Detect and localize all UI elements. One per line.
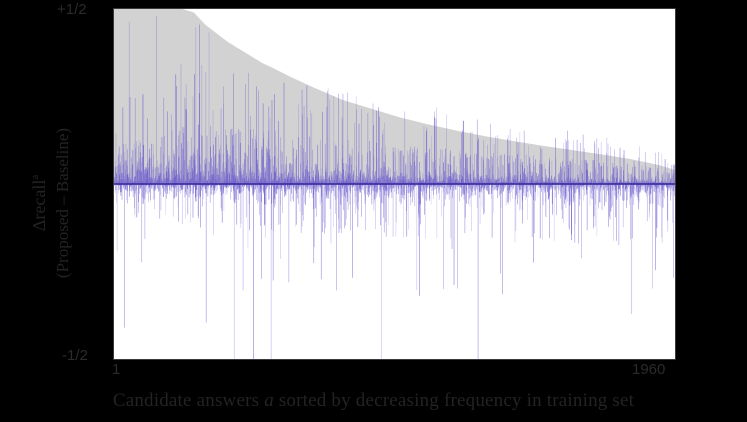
zero-baseline-layer [114, 9, 675, 359]
x-axis-tick-left: 1 [112, 362, 120, 377]
plot-inner [114, 9, 675, 359]
y-axis-tick-top: +1/2 [57, 2, 87, 17]
plot-area [113, 8, 676, 360]
x-axis-title-variable: a [264, 390, 274, 411]
y-axis-title-superscript: a [29, 175, 41, 180]
x-axis-title-suffix: sorted by decreasing frequency in traini… [274, 390, 634, 411]
figure-canvas: +1/2 -1/2 1 1960 Δrecalla (Proposed – Ba… [0, 0, 747, 422]
zero-baseline [114, 183, 675, 185]
y-axis-title-line1: Δrecall [29, 180, 49, 232]
x-axis-title: Candidate answers a sorted by decreasing… [0, 390, 747, 412]
y-axis-title: Δrecalla (Proposed – Baseline) [24, 33, 74, 373]
y-axis-title-line2: (Proposed – Baseline) [53, 128, 72, 278]
x-axis-title-prefix: Candidate answers [113, 390, 264, 411]
x-axis-tick-right: 1960 [632, 362, 665, 377]
